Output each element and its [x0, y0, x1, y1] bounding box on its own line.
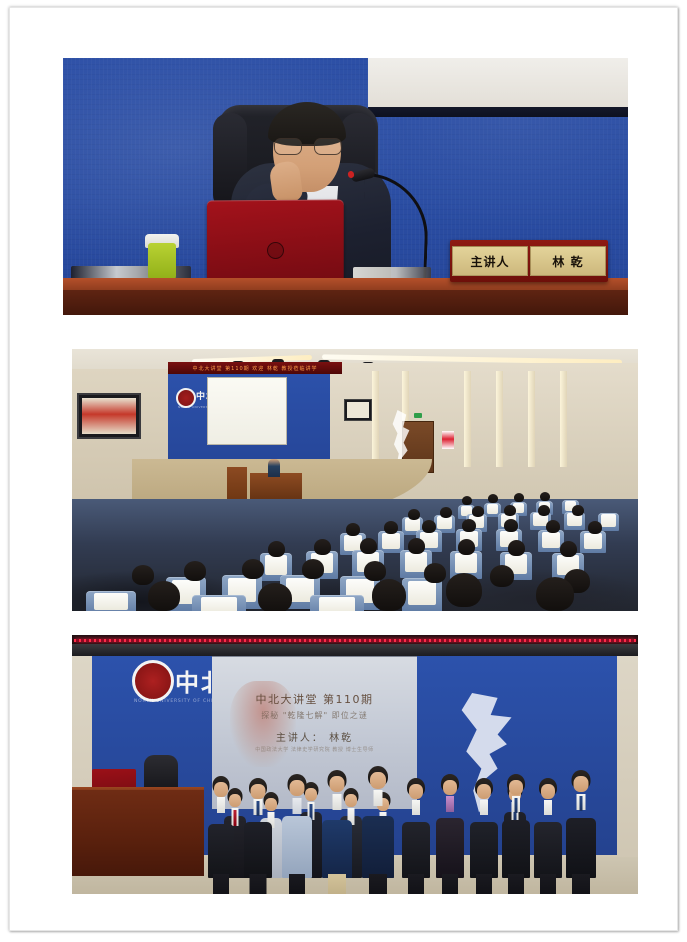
audience-head	[458, 539, 475, 555]
audience-head	[408, 509, 420, 520]
auditorium-seat	[192, 595, 246, 611]
lecture-desk	[72, 790, 204, 876]
exit-sign-icon	[414, 413, 422, 418]
audience-head	[440, 507, 452, 518]
audience-head	[422, 520, 436, 533]
audience-head	[490, 565, 514, 587]
audience-head	[268, 541, 285, 557]
auditorium-seat	[580, 531, 606, 553]
audience-head	[148, 581, 180, 611]
audience-head	[302, 559, 324, 579]
audience-head	[364, 561, 386, 581]
nameplate-role: 主讲人	[452, 246, 528, 276]
university-logo-subtext: NORTH UNIVERSITY OF CHINA	[134, 699, 221, 704]
auditorium-seat	[310, 595, 364, 611]
group-person	[470, 778, 498, 878]
audience-head	[462, 519, 476, 532]
group-person	[208, 778, 234, 878]
audience-head	[538, 505, 550, 516]
audience-head	[372, 579, 406, 611]
group-person	[362, 772, 394, 878]
seated-speaker	[268, 459, 280, 477]
audience-head	[572, 505, 584, 516]
audience-head	[536, 577, 574, 611]
wall-poster	[442, 431, 454, 449]
laptop-icon	[207, 200, 344, 281]
wall-pillar	[560, 371, 567, 467]
group-person	[322, 774, 352, 878]
wall-pillar	[528, 371, 535, 467]
audience-head	[472, 506, 484, 517]
group-person	[534, 778, 562, 878]
desk-front	[63, 290, 628, 315]
audience-head	[346, 523, 360, 536]
slide-speaker: 主讲人： 林乾	[212, 729, 417, 744]
audience-head	[242, 559, 264, 579]
audience-head	[184, 561, 206, 581]
audience-head	[508, 540, 525, 556]
audience-head	[462, 496, 472, 505]
led-banner-text: 中北大讲堂 第110期 欢迎 林乾 教授莅临讲学	[193, 365, 318, 372]
ceiling-soffit	[72, 644, 638, 656]
audience-head	[408, 538, 425, 554]
wall-panel-edge	[368, 107, 628, 117]
group-person	[502, 776, 530, 878]
photo-speaker-portrait: 主讲人 林 乾 Speaker seated at the lecture de…	[63, 58, 628, 315]
audience-head	[314, 539, 331, 555]
group-person	[566, 774, 596, 878]
audience-head	[514, 493, 524, 502]
group-person	[402, 778, 430, 878]
audience-head	[560, 541, 577, 557]
projection-screen	[207, 377, 287, 445]
wall-pillar	[496, 371, 503, 467]
audience-head	[132, 565, 154, 585]
audience-head	[546, 520, 560, 533]
photo-group-on-stage: 中北大学 NORTH UNIVERSITY OF CHINA 中北大讲堂 第11…	[72, 635, 638, 894]
led-banner: 中北大讲堂 第110期 欢迎 林乾 教授莅临讲学	[168, 362, 342, 374]
wall-pillar	[372, 371, 379, 467]
audience-head	[588, 521, 602, 534]
audience-head	[488, 494, 498, 503]
audience-head	[384, 521, 398, 534]
side-monitor-icon	[77, 393, 141, 439]
audience-head	[504, 505, 516, 516]
slide-title: 中北大讲堂 第110期	[212, 691, 417, 707]
eyeglasses-icon	[274, 138, 340, 153]
document-page: 主讲人 林 乾 Speaker seated at the lecture de…	[9, 7, 678, 931]
audience-head	[504, 519, 518, 532]
speaker-nameplate: 主讲人 林 乾	[450, 240, 608, 282]
university-logo-icon	[132, 660, 174, 702]
group-person	[282, 776, 312, 878]
side-monitor-icon	[344, 399, 372, 421]
slide-affiliation: 中国政法大学 法律史学研究院 教授 博士生导师	[212, 746, 417, 753]
audience-head	[258, 583, 292, 611]
audience-head	[446, 573, 482, 607]
audience-head	[424, 563, 446, 583]
nameplate-name: 林 乾	[530, 246, 606, 276]
wall-pillar	[464, 371, 471, 467]
audience-head	[540, 492, 550, 501]
audience-area	[72, 499, 638, 611]
group-person	[436, 776, 464, 878]
auditorium-seat	[86, 591, 136, 611]
slide-subtitle: 探秘 "乾隆七解" 即位之谜	[212, 710, 417, 721]
wall-panel	[368, 58, 628, 110]
group-person	[244, 778, 272, 878]
coffee-cup-icon	[148, 243, 176, 281]
audience-head	[360, 538, 377, 554]
photo-auditorium-wide: 中北大学 NORTH UNIVERSITY OF CHINA 中北大讲堂 第11…	[72, 349, 638, 611]
